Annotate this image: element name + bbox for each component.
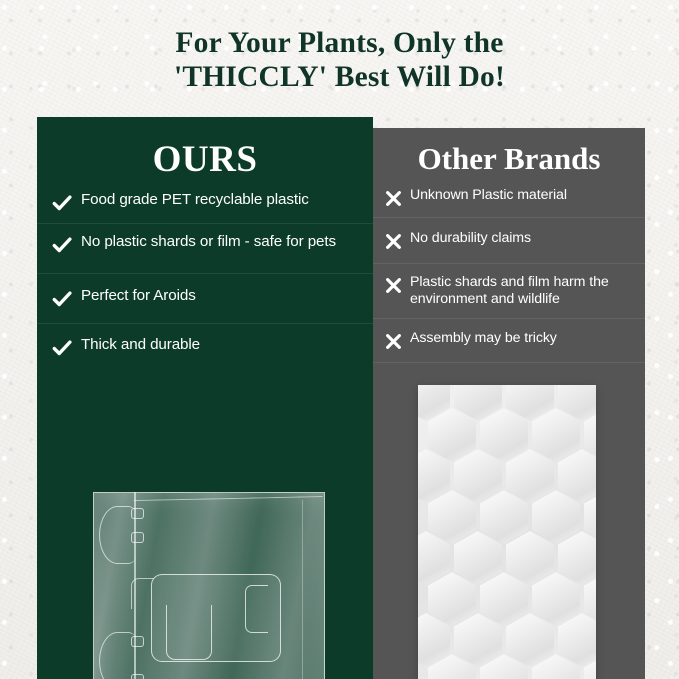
x-icon: [384, 189, 403, 208]
comparison-column-ours: OURS Food grade PET recyclable plastic N…: [37, 117, 373, 679]
list-item: No plastic shards or film - safe for pet…: [37, 224, 373, 274]
product-image-ours: [37, 480, 373, 679]
hexagon-cell: [506, 531, 554, 585]
hexagon-cell: [532, 408, 580, 462]
hexagon-cell: [480, 490, 528, 544]
list-item-label: Unknown Plastic material: [410, 187, 567, 204]
column-heading-ours: OURS: [37, 117, 373, 182]
list-item: Assembly may be tricky: [373, 319, 645, 363]
column-heading-other: Other Brands: [373, 128, 645, 178]
list-item: No durability claims: [373, 218, 645, 264]
check-icon: [51, 337, 73, 359]
check-icon: [51, 234, 73, 256]
hexagon-cell: [532, 572, 580, 626]
list-item: Unknown Plastic material: [373, 178, 645, 218]
hexagon-cell: [480, 572, 528, 626]
hexagon-cell: [428, 408, 476, 462]
feature-list-other: Unknown Plastic material No durability c…: [373, 178, 645, 363]
list-item-label: Assembly may be tricky: [410, 330, 557, 347]
comparison-table: OURS Food grade PET recyclable plastic N…: [0, 0, 679, 679]
comparison-column-other: Other Brands Unknown Plastic material No…: [373, 128, 645, 679]
list-item-label: Perfect for Aroids: [81, 287, 196, 305]
list-item-label: Thick and durable: [81, 336, 200, 354]
hexagon-cell: [428, 490, 476, 544]
x-icon: [384, 276, 403, 295]
check-icon: [51, 288, 73, 310]
hexagon-cell: [454, 613, 502, 667]
hexagon-cell: [480, 408, 528, 462]
list-item-label: Food grade PET recyclable plastic: [81, 191, 309, 209]
x-icon: [384, 232, 403, 251]
hexagon-cell: [428, 572, 476, 626]
check-icon: [51, 192, 73, 214]
hexagon-cell: [454, 449, 502, 503]
product-image-other: [373, 363, 645, 679]
hexagon-cell: [506, 449, 554, 503]
list-item: Food grade PET recyclable plastic: [37, 182, 373, 224]
hexagon-cell: [506, 613, 554, 667]
list-item: Thick and durable: [37, 324, 373, 371]
hexagon-cell: [454, 531, 502, 585]
list-item: Perfect for Aroids: [37, 274, 373, 324]
list-item-label: No durability claims: [410, 230, 531, 247]
hexagon-cell: [532, 490, 580, 544]
feature-list-ours: Food grade PET recyclable plastic No pla…: [37, 182, 373, 371]
list-item-label: No plastic shards or film - safe for pet…: [81, 233, 336, 251]
x-icon: [384, 332, 403, 351]
list-item: Plastic shards and film harm the environ…: [373, 264, 645, 319]
list-item-label: Plastic shards and film harm the environ…: [410, 274, 637, 308]
